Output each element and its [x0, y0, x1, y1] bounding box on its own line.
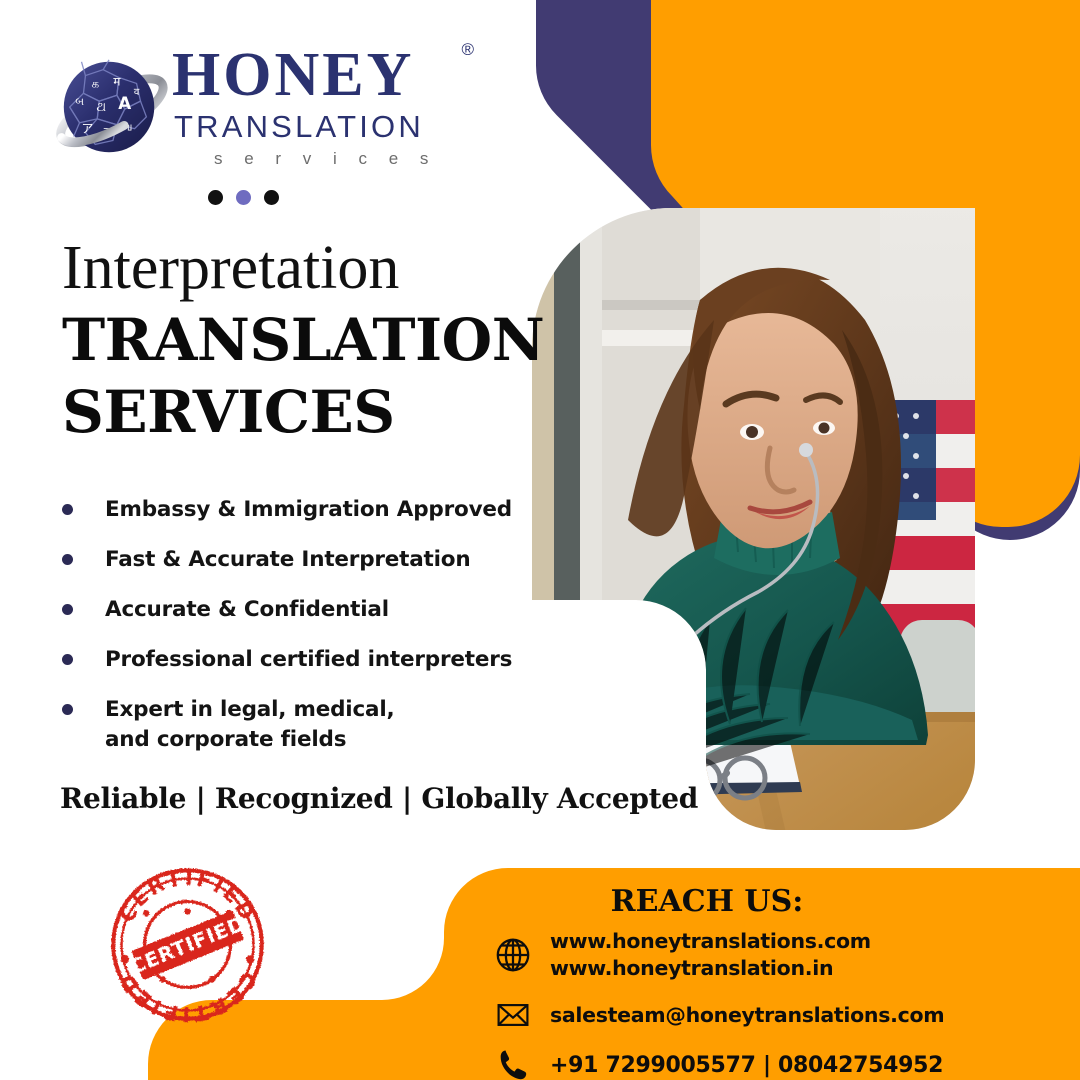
contact-email: salesteam@honeytranslations.com [550, 1002, 944, 1029]
svg-text:க: க [91, 76, 99, 90]
contact-phone: +91 7299005577 | 08042754952 [550, 1052, 943, 1079]
dot-3 [264, 190, 279, 205]
headline-line-2: SERVICES [62, 380, 532, 444]
envelope-icon [492, 994, 534, 1036]
svg-text:ア: ア [81, 122, 93, 136]
list-item-label: Accurate & Confidential [105, 595, 389, 625]
bullet-icon [62, 554, 73, 565]
list-item: Fast & Accurate Interpretation [56, 545, 526, 575]
reach-us-title: REACH US: [430, 884, 984, 919]
svg-text:व: व [134, 87, 140, 98]
dot-1 [208, 190, 223, 205]
list-item: Professional certified interpreters [56, 645, 526, 675]
website-line-2: www.honeytranslation.in [550, 956, 833, 980]
bullet-icon [62, 654, 73, 665]
headline-line-1: TRANSLATION [62, 308, 532, 372]
svg-text:ଥ: ଥ [96, 100, 106, 115]
phone-icon [492, 1044, 534, 1080]
feature-list: Embassy & Immigration Approved Fast & Ac… [56, 495, 526, 775]
logo-line-translation: TRANSLATION [174, 110, 472, 144]
poster-canvas: க म व બ ଥ A ア ᄀ ข HONEY ® TRANSLATION s … [0, 0, 1080, 1080]
tagline: Reliable | Recognized | Globally Accepte… [60, 782, 698, 816]
list-item-label: Professional certified interpreters [105, 645, 512, 675]
logo-line-services: s e r v i c e s [214, 149, 472, 169]
hero-photo [500, 190, 1002, 850]
list-item-label: Embassy & Immigration Approved [105, 495, 512, 525]
contact-website-lines: www.honeytranslations.com www.honeytrans… [550, 928, 871, 982]
logo-wordmark: HONEY ® TRANSLATION s e r v i c e s [172, 44, 472, 169]
decorative-dots [208, 190, 279, 205]
contact-block: REACH US: www.honeytranslations.com www.… [430, 868, 1080, 1080]
brand-logo[interactable]: க म व બ ଥ A ア ᄀ ข HONEY ® TRANSLATION s … [52, 44, 472, 179]
bullet-icon [62, 604, 73, 615]
globe-icon [492, 934, 534, 976]
dot-2-accent [236, 190, 251, 205]
svg-text:म: म [113, 74, 121, 88]
contact-row-phone[interactable]: +91 7299005577 | 08042754952 [492, 1044, 943, 1080]
list-item: Accurate & Confidential [56, 595, 526, 625]
bullet-icon [62, 704, 73, 715]
globe-languages-icon: க म व બ ଥ A ア ᄀ ข [52, 50, 170, 168]
contact-row-email[interactable]: salesteam@honeytranslations.com [492, 994, 944, 1036]
website-line-1: www.honeytranslations.com [550, 929, 871, 953]
list-item-label: Fast & Accurate Interpretation [105, 545, 470, 575]
logo-name: HONEY [172, 44, 472, 106]
list-item-label: Expert in legal, medical, and corporate … [105, 695, 445, 755]
list-item: Embassy & Immigration Approved [56, 495, 526, 525]
svg-text:A: A [118, 93, 131, 113]
headline-script: Interpretation [62, 236, 532, 300]
bullet-icon [62, 504, 73, 515]
registered-mark-icon: ® [461, 40, 474, 60]
certified-stamp-icon: CERTIFIED CERTIFIED CERTIFIED [105, 862, 270, 1027]
svg-text:બ: બ [75, 95, 84, 108]
list-item: Expert in legal, medical, and corporate … [56, 695, 526, 755]
headline-block: Interpretation TRANSLATION SERVICES [62, 236, 532, 444]
contact-row-website[interactable]: www.honeytranslations.com www.honeytrans… [492, 928, 871, 982]
